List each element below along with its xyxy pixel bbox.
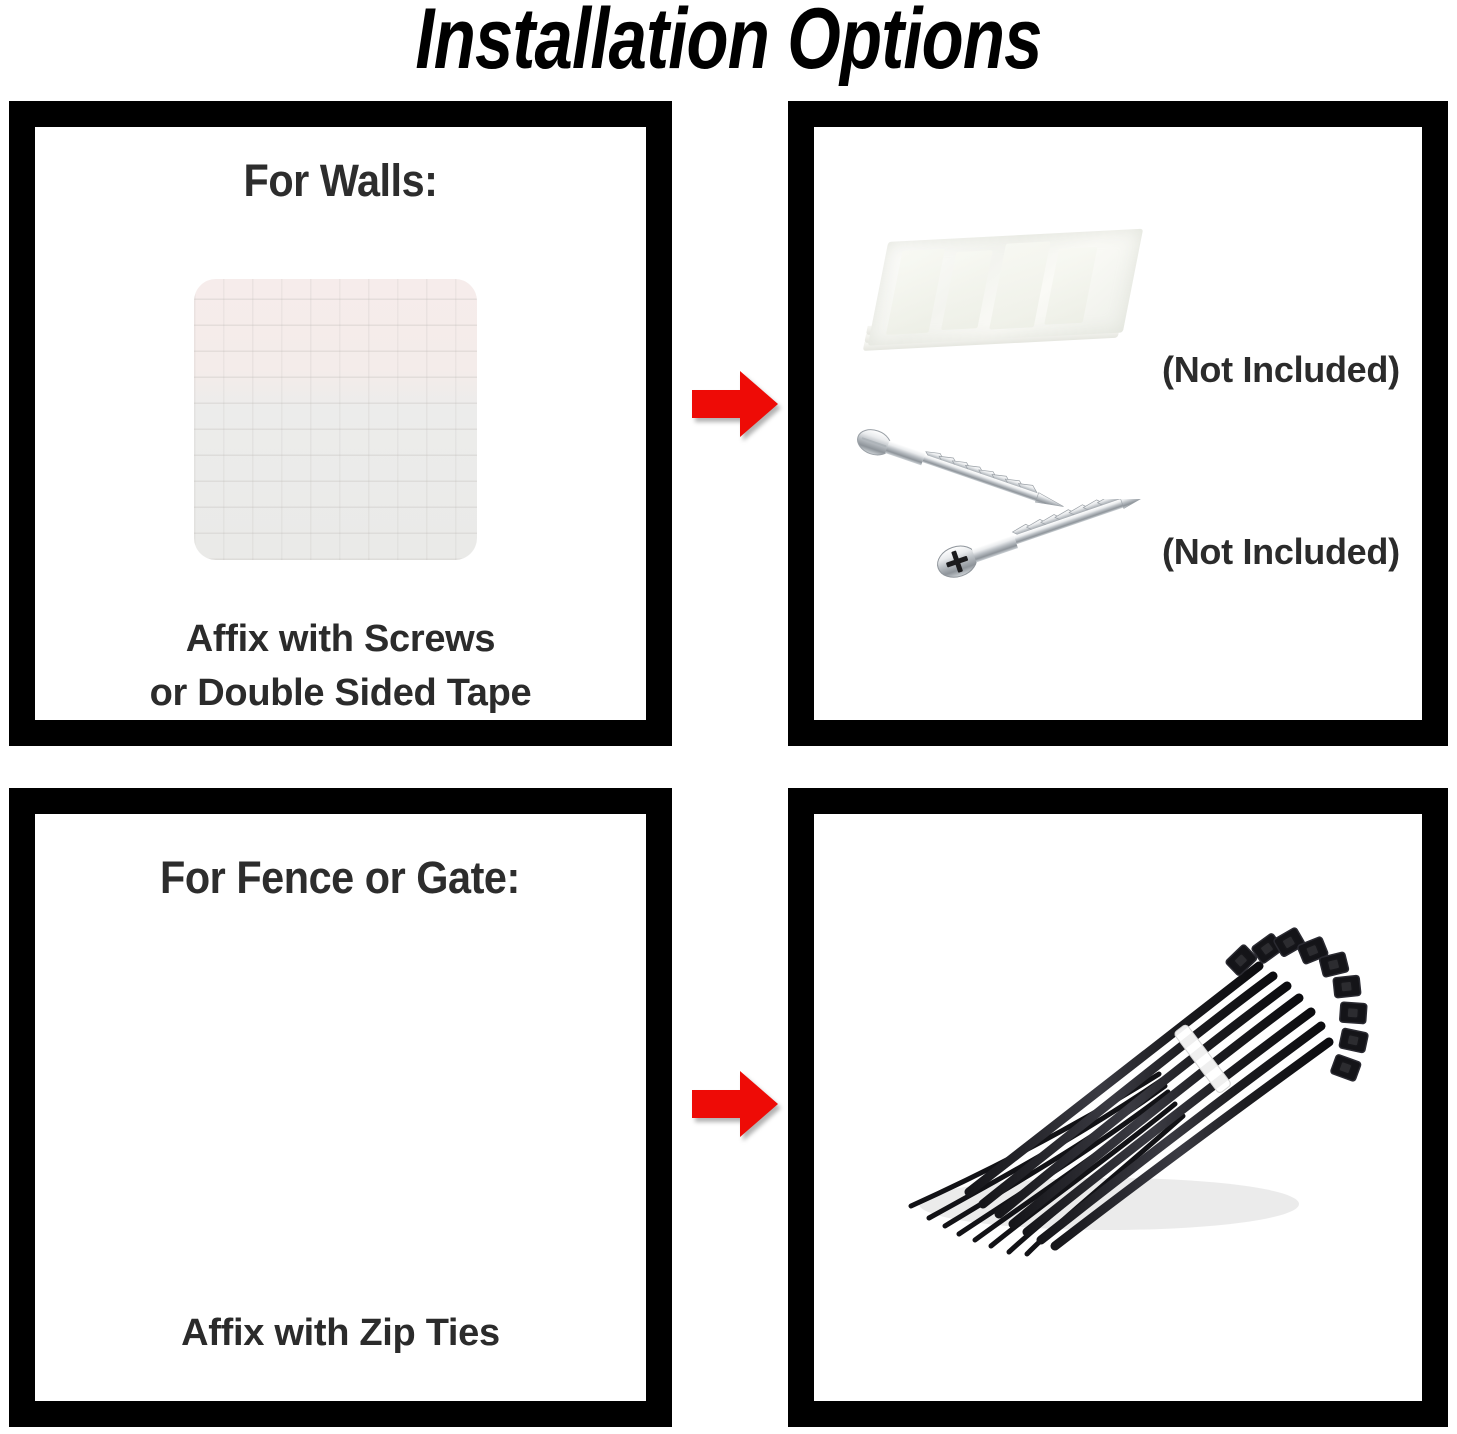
right-arrow-icon-walls xyxy=(692,371,778,437)
page-title: Installation Options xyxy=(146,0,1312,84)
heading-for-fence-or-gate: For Fence or Gate: xyxy=(160,852,520,904)
heading-for-walls: For Walls: xyxy=(59,155,621,207)
panel-for-fence-or-gate: For Fence or Gate: xyxy=(9,788,672,1427)
panel-for-walls: For Walls: Affix with Screws or Double S… xyxy=(9,101,672,746)
note-tape-not-included: (Not Included) xyxy=(1162,349,1400,391)
double-sided-tape-stack xyxy=(869,235,1139,385)
caption-line-1: Affix with Zip Ties xyxy=(35,1307,646,1361)
caption-affix-zip-ties: Affix with Zip Ties xyxy=(35,1307,646,1361)
caption-affix-walls: Affix with Screws or Double Sided Tape xyxy=(35,613,646,720)
wood-screw-lower-phillips xyxy=(929,499,1189,599)
caption-line-2: or Double Sided Tape xyxy=(35,667,646,720)
zip-tie-bundle xyxy=(859,874,1379,1294)
note-screws-not-included: (Not Included) xyxy=(1162,531,1400,573)
white-brick-wall-thumbnail xyxy=(194,279,477,560)
panel-zip-ties: (Not Included) xyxy=(788,788,1448,1427)
infographic-root: Installation Options For Walls: Affix wi… xyxy=(0,0,1457,1434)
right-arrow-icon-fence xyxy=(692,1071,778,1137)
panel-wall-hardware: (Not Included) xyxy=(788,101,1448,746)
caption-line-1: Affix with Screws xyxy=(35,613,646,667)
